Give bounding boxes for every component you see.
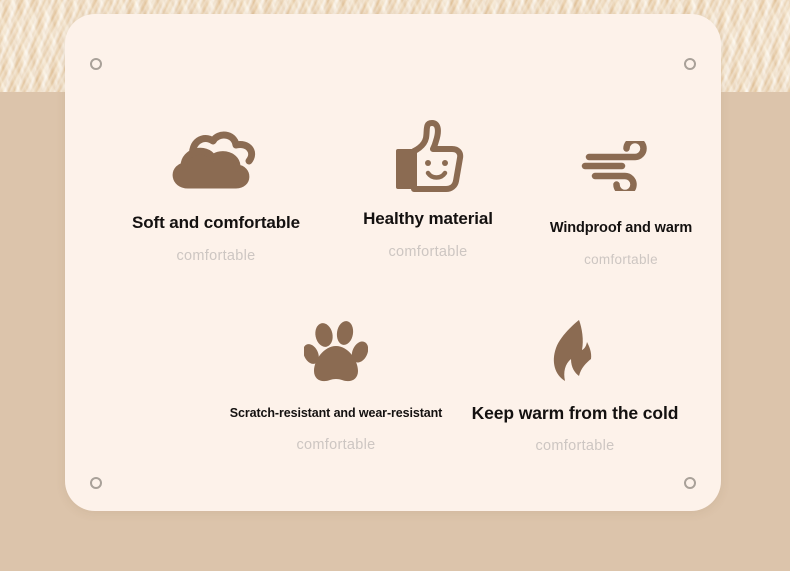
grommet-bottom-left [90,477,102,489]
feature-card: Soft and comfortable comfortable Healthy [65,14,721,511]
feature-item-scratch-resistant: Scratch-resistant and wear-resistant com… [195,314,477,453]
feature-subtitle: comfortable [455,438,695,454]
feature-title: Keep warm from the cold [455,403,695,424]
feature-subtitle: comfortable [520,252,722,267]
feature-subtitle: comfortable [195,437,477,453]
feature-title: Soft and comfortable [101,213,331,233]
feature-item-keep-warm: Keep warm from the cold comfortable [455,314,695,454]
grommet-bottom-right [684,477,696,489]
feature-title: Healthy material [330,209,526,229]
flame-icon [455,314,695,390]
wind-icon [520,130,722,202]
thumbs-up-smiley-icon [330,120,526,192]
feature-title: Windproof and warm [520,220,722,236]
feature-subtitle: comfortable [101,248,331,264]
cloud-icon [101,124,331,196]
feature-title: Scratch-resistant and wear-resistant [195,406,477,420]
paw-print-icon [195,314,477,390]
feature-item-healthy-material: Healthy material comfortable [330,120,526,260]
feature-item-soft-and-comfortable: Soft and comfortable comfortable [101,124,331,264]
grommet-top-left [90,58,102,70]
grommet-top-right [684,58,696,70]
feature-subtitle: comfortable [330,244,526,260]
feature-item-windproof-and-warm: Windproof and warm comfortable [520,130,722,267]
product-feature-banner: Soft and comfortable comfortable Healthy [0,0,790,571]
